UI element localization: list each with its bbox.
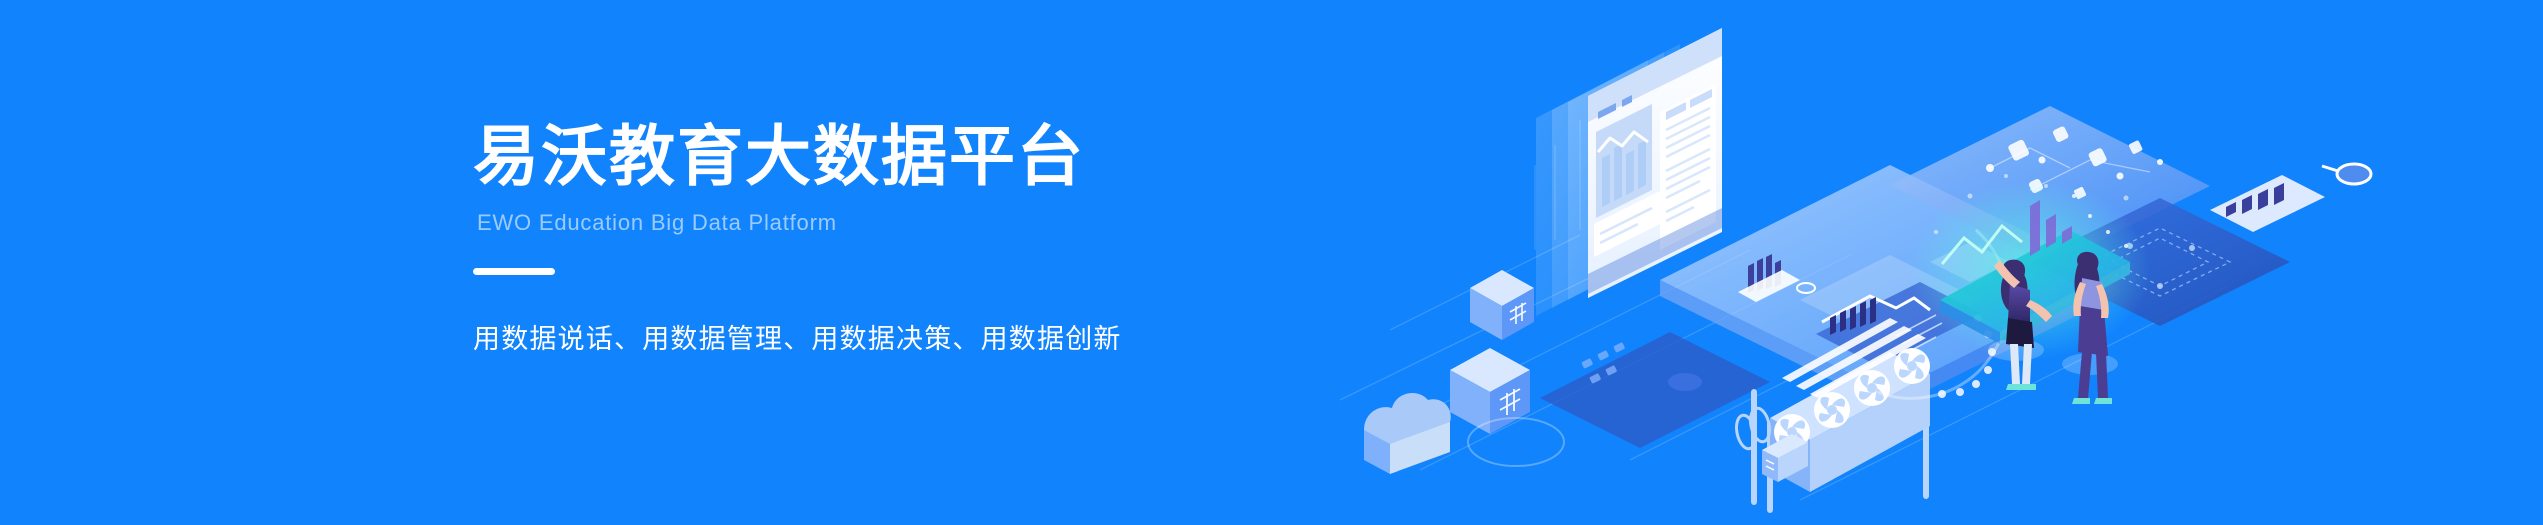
page-tagline: 用数据说话、用数据管理、用数据决策、用数据创新 xyxy=(473,317,1122,356)
page-title: 易沃教育大数据平台 xyxy=(473,118,1122,196)
server-cube-upper xyxy=(1470,270,1534,340)
magnifier-icon xyxy=(2322,164,2371,184)
page-subtitle: EWO Education Big Data Platform xyxy=(477,210,1122,236)
connector-ring xyxy=(1468,418,1564,466)
isometric-illustration xyxy=(1330,0,2543,525)
bar-chart-tile xyxy=(2210,175,2325,232)
dashboard-window xyxy=(1588,28,1722,298)
title-divider xyxy=(473,268,555,275)
hero-text-block: 易沃教育大数据平台 EWO Education Big Data Platfor… xyxy=(473,118,1122,356)
hero-banner: 易沃教育大数据平台 EWO Education Big Data Platfor… xyxy=(0,0,2543,525)
